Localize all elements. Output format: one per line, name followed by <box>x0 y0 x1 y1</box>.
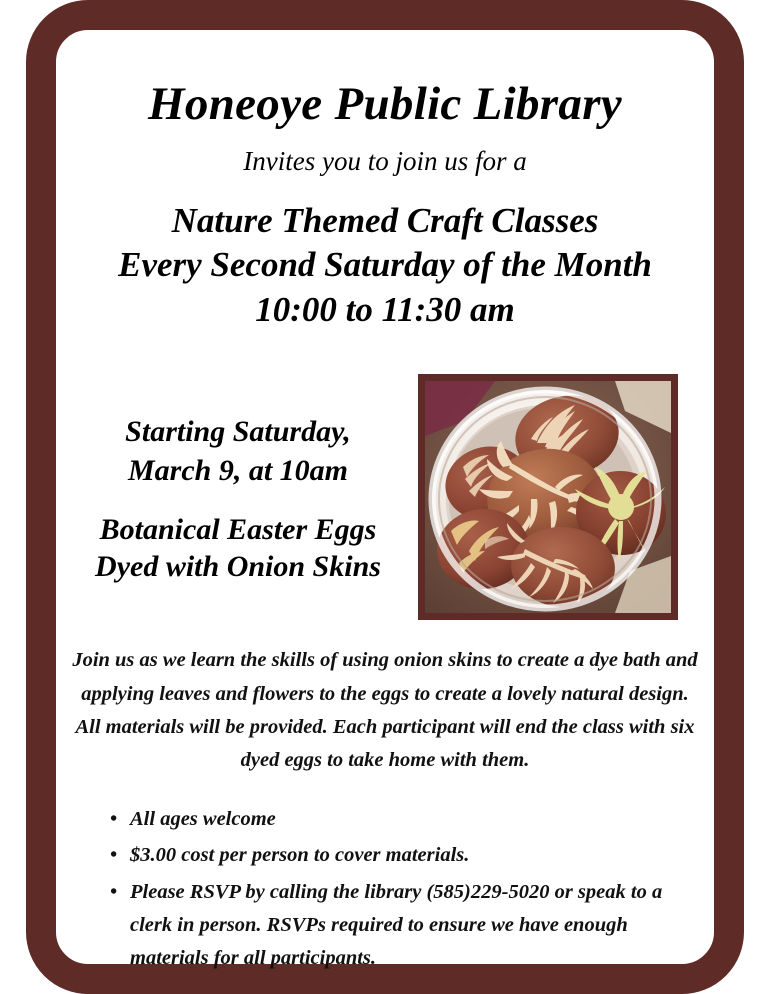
bullet-marker-icon: • <box>110 803 117 835</box>
details-bullet-list: • All ages welcome • $3.00 cost per pers… <box>56 803 714 975</box>
invitation-subtitle: Invites you to join us for a <box>56 147 714 177</box>
flyer-page: Honeoye Public Library Invites you to jo… <box>0 0 768 994</box>
details-and-photo-row: Starting Saturday, March 9, at 10am Bota… <box>56 360 714 610</box>
event-details-block: Starting Saturday, March 9, at 10am Bota… <box>62 412 414 585</box>
list-item: • Please RSVP by calling the library (58… <box>110 876 684 976</box>
description-paragraph: Join us as we learn the skills of using … <box>70 644 700 777</box>
list-item-label: All ages welcome <box>130 808 276 830</box>
list-item-label: $3.00 cost per person to cover materials… <box>130 844 469 866</box>
bullet-marker-icon: • <box>110 839 117 871</box>
list-item: • $3.00 cost per person to cover materia… <box>110 839 684 872</box>
easter-eggs-illustration <box>425 381 671 613</box>
bullet-marker-icon: • <box>110 876 117 908</box>
flyer-content: Honeoye Public Library Invites you to jo… <box>56 30 714 964</box>
list-item: • All ages welcome <box>110 803 684 836</box>
easter-eggs-photo <box>425 381 671 613</box>
list-item-label: Please RSVP by calling the library (585)… <box>130 881 662 969</box>
photo-frame <box>418 374 678 620</box>
craft-topic-text: Botanical Easter Eggs Dyed with Onion Sk… <box>62 512 414 585</box>
start-date-text: Starting Saturday, March 9, at 10am <box>62 412 414 490</box>
page-title: Honeoye Public Library <box>56 80 714 129</box>
event-title: Nature Themed Craft Classes Every Second… <box>56 199 714 332</box>
